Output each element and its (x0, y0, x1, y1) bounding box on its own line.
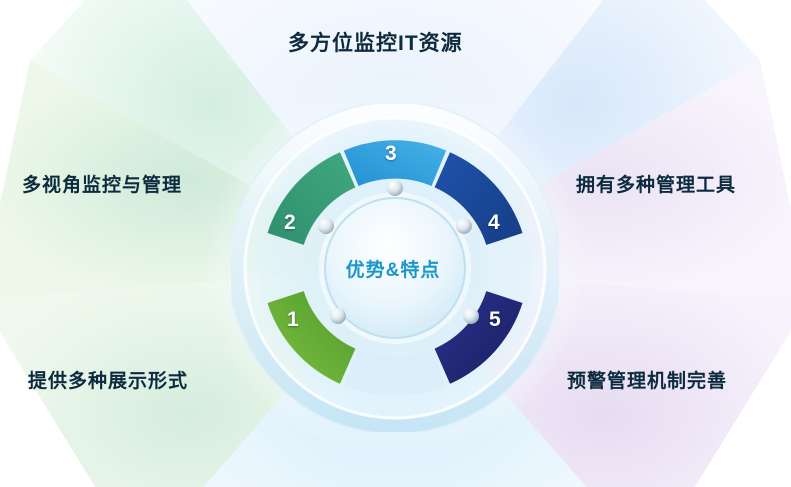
label-left-lower: 提供多种展示形式 (28, 366, 188, 393)
center-label: 优势&特点 (330, 255, 456, 282)
segment-number-1: 1 (287, 308, 299, 332)
segment-bottom-blank (344, 350, 446, 396)
diagram-canvas: 优势&特点 1 2 3 4 5 多方位监控IT资源 多视角监控与管理 提供多种展… (0, 0, 791, 487)
label-left-upper: 多视角监控与管理 (22, 170, 182, 197)
label-top: 多方位监控IT资源 (288, 27, 463, 57)
label-right-upper: 拥有多种管理工具 (576, 170, 736, 197)
marker-dot-2 (318, 218, 334, 234)
segment-number-2: 2 (284, 211, 296, 235)
marker-dot-3 (387, 180, 403, 196)
segment-number-4: 4 (488, 211, 500, 235)
marker-dot-5 (463, 308, 479, 324)
marker-dot-4 (456, 218, 472, 234)
label-right-lower: 预警管理机制完善 (567, 366, 727, 393)
segment-number-5: 5 (489, 308, 501, 332)
segment-number-3: 3 (385, 142, 397, 166)
marker-dot-1 (330, 308, 346, 324)
